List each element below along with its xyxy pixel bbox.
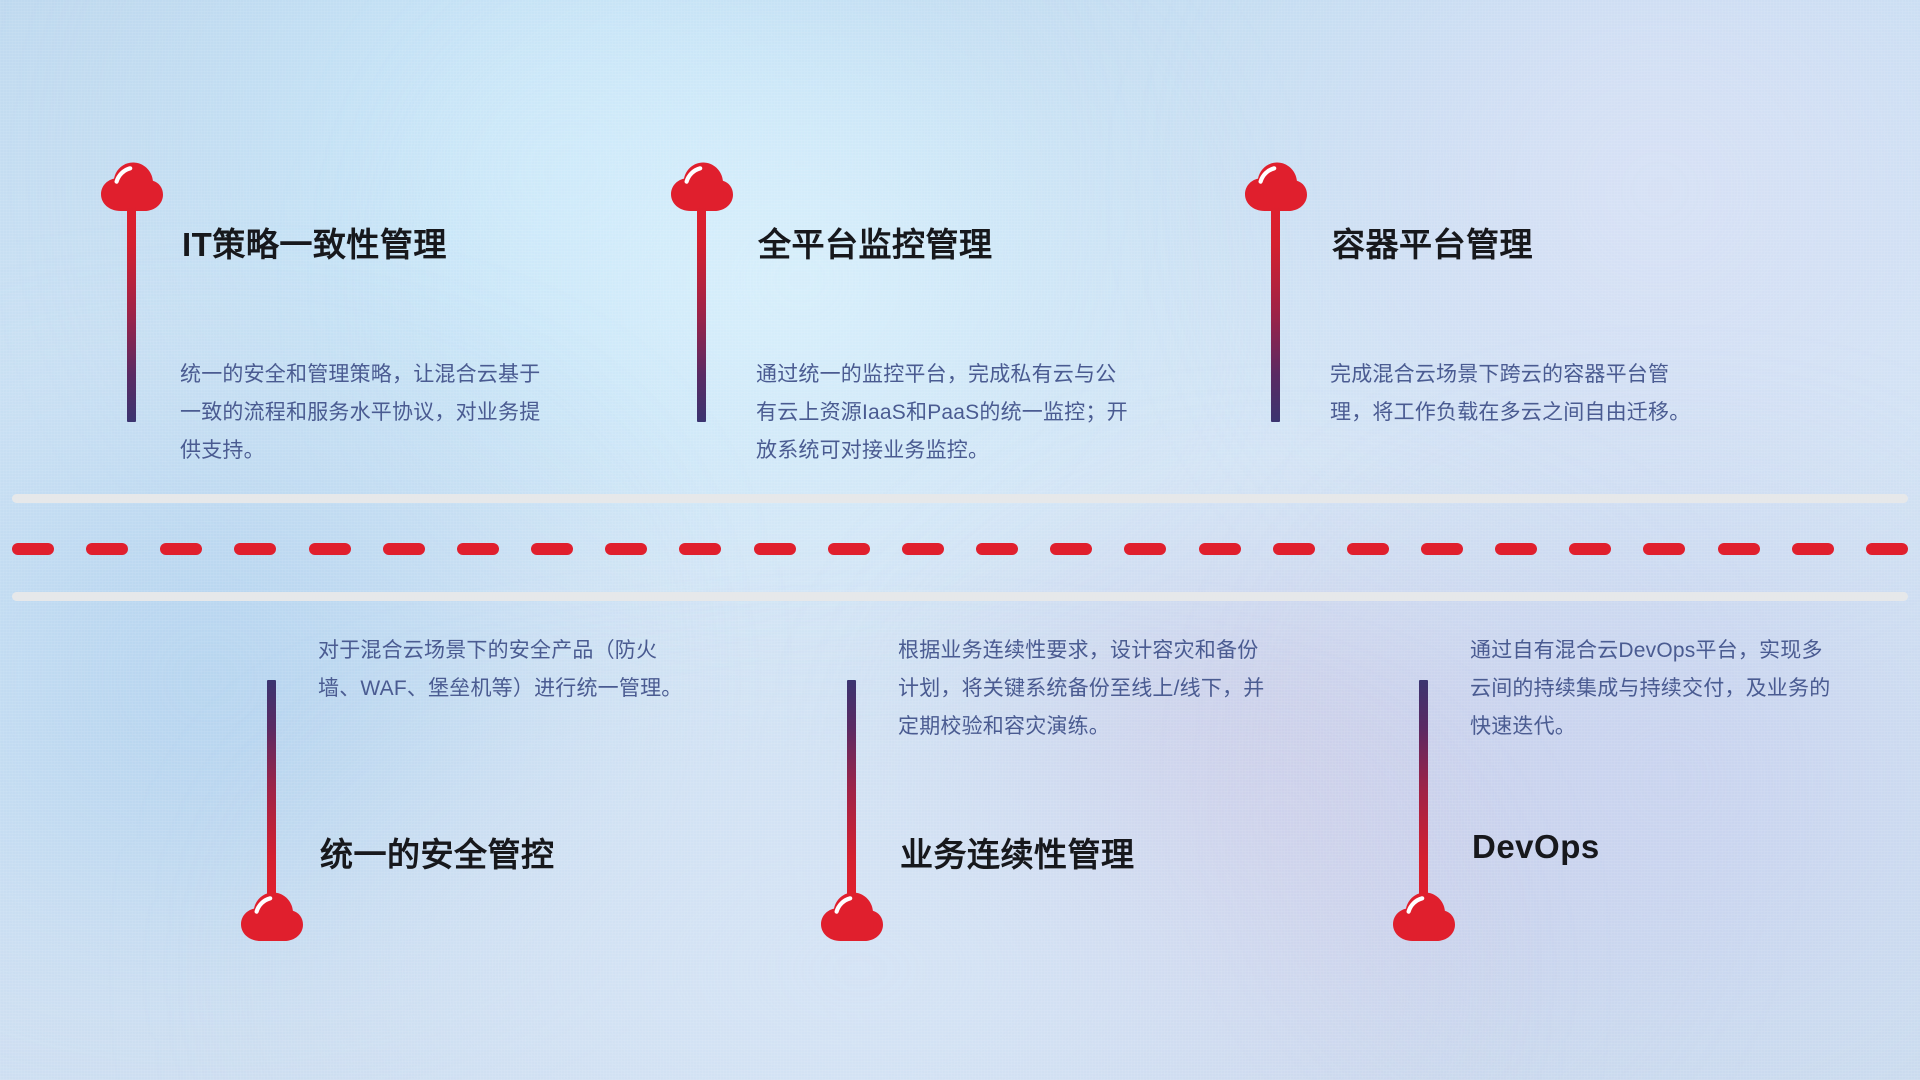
divider-dash [754, 543, 796, 555]
divider-dash [902, 543, 944, 555]
divider-dash [1050, 543, 1092, 555]
top-card-body-1: 统一的安全和管理策略，让混合云基于一致的流程和服务水平协议，对业务提供支持。 [180, 356, 552, 470]
divider-dash [1273, 543, 1315, 555]
timeline-stem [267, 680, 276, 896]
divider-dash [1569, 543, 1611, 555]
divider-dash [234, 543, 276, 555]
bottom-card-title-1: 统一的安全管控 [320, 828, 555, 876]
divider-dashed-red [12, 543, 1908, 555]
divider-dash [12, 543, 54, 555]
cloud-icon [1244, 160, 1308, 212]
divider-dash [1866, 543, 1908, 555]
divider-dash [828, 543, 870, 555]
cloud-icon [670, 160, 734, 212]
divider-dash [383, 543, 425, 555]
top-card-title-3: 容器平台管理 [1332, 218, 1533, 266]
divider-dash [86, 543, 128, 555]
cloud-icon [240, 890, 304, 942]
divider-dash [457, 543, 499, 555]
divider-rule-top [12, 494, 1908, 503]
divider-dash [1124, 543, 1166, 555]
top-card-title-1: IT策略一致性管理 [182, 218, 447, 266]
top-card-title-2: 全平台监控管理 [758, 218, 993, 266]
top-card-body-2: 通过统一的监控平台，完成私有云与公有云上资源IaaS和PaaS的统一监控；开放系… [756, 356, 1128, 470]
divider-dash [1792, 543, 1834, 555]
cloud-icon [100, 160, 164, 212]
timeline-stem [847, 680, 856, 896]
divider-dash [1718, 543, 1760, 555]
timeline-stem [1271, 206, 1280, 422]
divider-dash [1347, 543, 1389, 555]
timeline-stem [127, 206, 136, 422]
top-card-body-3: 完成混合云场景下跨云的容器平台管理，将工作负载在多云之间自由迁移。 [1330, 356, 1702, 432]
cloud-icon [1392, 890, 1456, 942]
divider-dash [605, 543, 647, 555]
bottom-card-title-3: DevOps [1472, 828, 1600, 866]
divider-dash [309, 543, 351, 555]
divider-dash [976, 543, 1018, 555]
divider-dash [679, 543, 721, 555]
divider-dash [531, 543, 573, 555]
divider-rule-bottom [12, 592, 1908, 601]
cloud-icon [820, 890, 884, 942]
divider-dash [1495, 543, 1537, 555]
bottom-card-title-2: 业务连续性管理 [900, 828, 1135, 876]
divider-dash [160, 543, 202, 555]
divider-dash [1421, 543, 1463, 555]
divider-dash [1643, 543, 1685, 555]
bottom-card-body-2: 根据业务连续性要求，设计容灾和备份计划，将关键系统备份至线上/线下，并定期校验和… [898, 632, 1270, 746]
timeline-stem [1419, 680, 1428, 896]
bottom-card-body-3: 通过自有混合云DevOps平台，实现多云间的持续集成与持续交付，及业务的快速迭代… [1470, 632, 1842, 746]
bottom-card-body-1: 对于混合云场景下的安全产品（防火墙、WAF、堡垒机等）进行统一管理。 [318, 632, 690, 708]
divider-dash [1199, 543, 1241, 555]
infographic-canvas: IT策略一致性管理 统一的安全和管理策略，让混合云基于一致的流程和服务水平协议，… [0, 0, 1920, 1080]
timeline-stem [697, 206, 706, 422]
